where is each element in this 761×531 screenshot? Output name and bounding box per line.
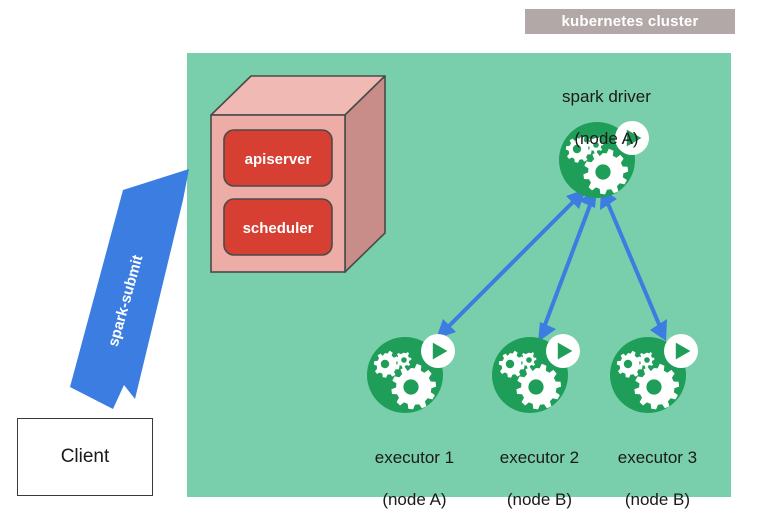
executor-3-title: executor 3 (618, 448, 697, 467)
client-label: Client (61, 446, 110, 468)
spark-submit-arrow: spark-submit (70, 169, 189, 409)
driver-title-label: spark driver (node A) (517, 65, 677, 170)
service-apiserver[interactable]: apiserver (224, 130, 332, 186)
executor-2-subtitle: (node B) (507, 490, 572, 509)
kubernetes-cluster-badge: kubernetes cluster (525, 9, 735, 34)
apiserver-label: apiserver (245, 151, 312, 168)
diagram-canvas: apiserver scheduler spark-submit (0, 0, 761, 516)
executor-2-play-icon[interactable] (546, 334, 580, 368)
executor-3-play-icon[interactable] (664, 334, 698, 368)
executor-3-label: executor 3 (node B) (568, 426, 728, 531)
control-plane-cube: apiserver scheduler (211, 76, 385, 272)
executor-1-title: executor 1 (375, 448, 454, 467)
scheduler-label: scheduler (243, 220, 314, 237)
executor-3-subtitle: (node B) (625, 490, 690, 509)
driver-title: spark driver (562, 87, 651, 106)
client-box[interactable]: Client (17, 418, 153, 496)
driver-subtitle: (node A) (574, 129, 638, 148)
executor-1-subtitle: (node A) (382, 490, 446, 509)
service-scheduler[interactable]: scheduler (224, 199, 332, 255)
executor-1-play-icon[interactable] (421, 334, 455, 368)
